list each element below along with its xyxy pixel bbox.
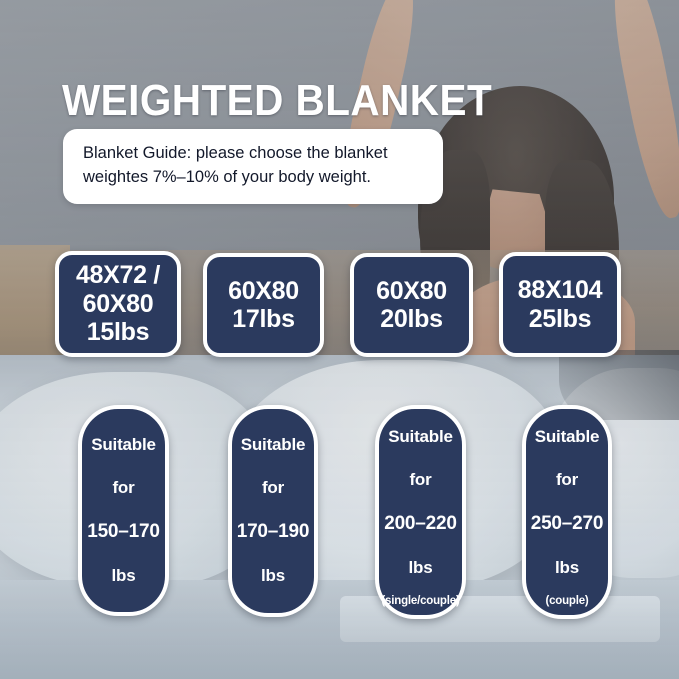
size-card[interactable]: 88X104 25lbs bbox=[499, 252, 621, 357]
suitable-label: Suitable bbox=[241, 436, 306, 453]
blanket-guide-callout: Blanket Guide: please choose the blanket… bbox=[63, 129, 443, 204]
weight-unit: lbs bbox=[409, 559, 433, 576]
suitability-card[interactable]: Suitable for 200–220 lbs (single/couple) bbox=[375, 405, 466, 619]
weight-range: 250–270 bbox=[531, 514, 604, 533]
weight-unit: lbs bbox=[112, 567, 136, 584]
size-card-line: 88X104 bbox=[518, 276, 602, 305]
weight-range: 150–170 bbox=[87, 522, 160, 541]
page-title: WEIGHTED BLANKET bbox=[62, 76, 492, 126]
size-card-line: 48X72 / bbox=[76, 261, 160, 290]
weighted-blanket-size-poster: WEIGHTED BLANKET Blanket Guide: please c… bbox=[0, 0, 679, 679]
size-card-line: 60X80 bbox=[83, 290, 154, 319]
guide-line-1: Blanket Guide: please choose the blanket bbox=[83, 144, 388, 162]
size-card-line: 60X80 bbox=[228, 277, 299, 306]
guide-text: Blanket Guide: please choose the blanket… bbox=[83, 142, 425, 190]
suitability-card[interactable]: Suitable for 170–190 lbs bbox=[228, 405, 318, 617]
usage-note: (couple) bbox=[545, 596, 588, 608]
for-label: for bbox=[112, 479, 134, 496]
size-card-line: 15lbs bbox=[87, 318, 149, 347]
guide-line-2: weightes 7%–10% of your body weight. bbox=[83, 168, 371, 186]
suitable-label: Suitable bbox=[535, 428, 600, 445]
usage-note: (single/couple) bbox=[381, 596, 459, 608]
for-label: for bbox=[556, 471, 578, 488]
size-card[interactable]: 48X72 / 60X80 15lbs bbox=[55, 251, 181, 357]
size-card-line: 60X80 bbox=[376, 277, 447, 306]
size-card-line: 25lbs bbox=[529, 305, 591, 334]
size-card[interactable]: 60X80 17lbs bbox=[203, 253, 324, 357]
suitability-card[interactable]: Suitable for 150–170 lbs bbox=[78, 405, 169, 616]
for-label: for bbox=[409, 471, 431, 488]
weight-unit: lbs bbox=[261, 567, 285, 584]
suitable-label: Suitable bbox=[388, 428, 453, 445]
weight-range: 170–190 bbox=[237, 522, 310, 541]
suitable-label: Suitable bbox=[91, 436, 156, 453]
size-card-line: 17lbs bbox=[232, 305, 294, 334]
weight-range: 200–220 bbox=[384, 514, 457, 533]
suitability-card[interactable]: Suitable for 250–270 lbs (couple) bbox=[522, 405, 612, 619]
size-card[interactable]: 60X80 20lbs bbox=[350, 253, 473, 357]
for-label: for bbox=[262, 479, 284, 496]
size-card-line: 20lbs bbox=[380, 305, 442, 334]
weight-unit: lbs bbox=[555, 559, 579, 576]
